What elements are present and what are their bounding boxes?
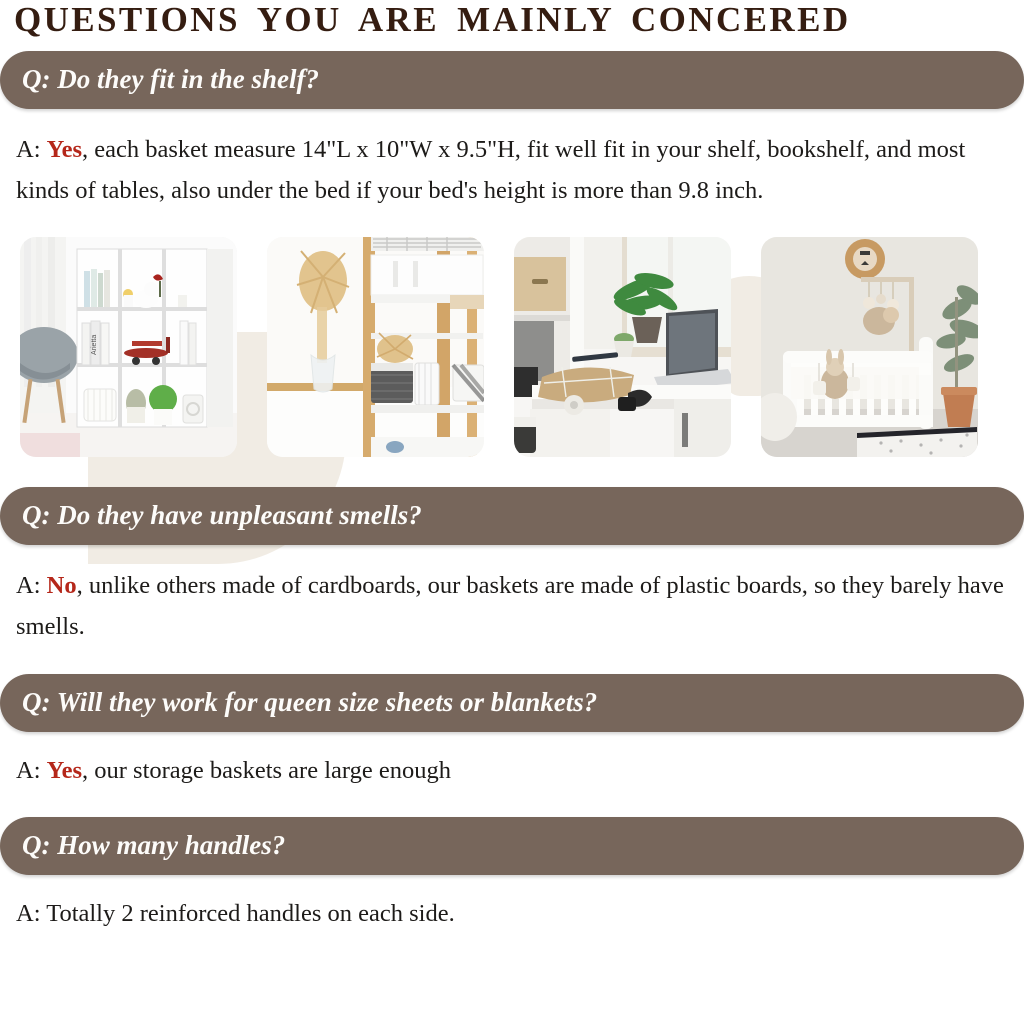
faq-answer-1: A: Yes, each basket measure 14"L x 10"W … (0, 129, 1024, 211)
gallery-photo-4[interactable] (761, 237, 978, 457)
gallery-photo-1[interactable]: Arietta (20, 237, 237, 457)
faq-item-1: Q: Do they fit in the shelf? A: Yes, eac… (0, 51, 1024, 211)
faq-answer-4: A: Totally 2 reinforced handles on each … (0, 893, 1024, 934)
faq-answer-3: A: Yes, our storage baskets are large en… (0, 750, 1024, 791)
faq-question-banner-3[interactable]: Q: Will they work for queen size sheets … (0, 674, 1024, 732)
photo-gallery: Arietta (0, 237, 1024, 457)
answer-prefix: A: (16, 900, 46, 927)
answer-highlight: Yes (47, 136, 82, 163)
faq-question-banner-4[interactable]: Q: How many handles? (0, 817, 1024, 875)
answer-body: Totally 2 reinforced handles on each sid… (46, 900, 455, 927)
answer-body: , our storage baskets are large enough (82, 757, 451, 784)
faq-item-2: Q: Do they have unpleasant smells? A: No… (0, 487, 1024, 647)
answer-body: , unlike others made of cardboards, our … (16, 572, 1004, 640)
svg-text:Arietta: Arietta (91, 335, 98, 355)
page-title: QUESTIONS YOU ARE MAINLY CONCERED (0, 0, 1024, 37)
gallery-photo-3[interactable] (514, 237, 731, 457)
answer-body: , each basket measure 14"L x 10"W x 9.5"… (16, 136, 965, 204)
answer-prefix: A: (16, 757, 47, 784)
faq-item-3: Q: Will they work for queen size sheets … (0, 674, 1024, 791)
answer-prefix: A: (16, 572, 47, 599)
answer-highlight: Yes (47, 757, 82, 784)
gallery-photo-2[interactable] (267, 237, 484, 457)
answer-highlight: No (47, 572, 77, 599)
faq-question-banner-1[interactable]: Q: Do they fit in the shelf? (0, 51, 1024, 109)
faq-question-banner-2[interactable]: Q: Do they have unpleasant smells? (0, 487, 1024, 545)
answer-prefix: A: (16, 136, 47, 163)
faq-answer-2: A: No, unlike others made of cardboards,… (0, 565, 1024, 647)
faq-item-4: Q: How many handles? A: Totally 2 reinfo… (0, 817, 1024, 934)
faq-list: Q: Do they fit in the shelf? A: Yes, eac… (0, 51, 1024, 934)
